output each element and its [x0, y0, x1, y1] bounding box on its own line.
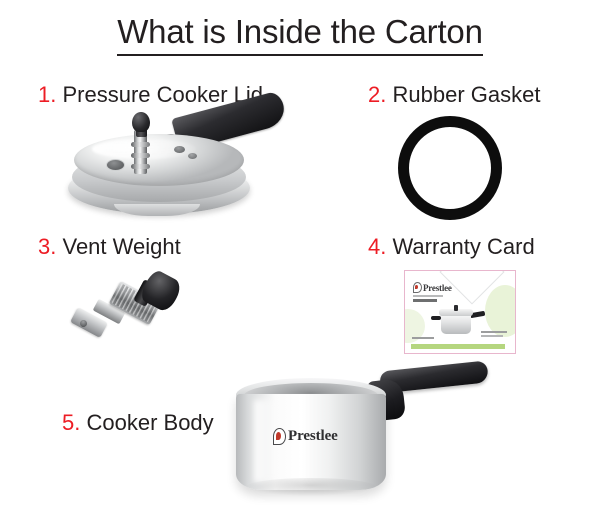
item-label-cooker-body: 5. Cooker Body	[62, 410, 214, 436]
card-footer-text-left	[412, 337, 434, 339]
item-text-5: Cooker Body	[86, 410, 213, 435]
item-text-4: Warranty Card	[392, 234, 534, 259]
card-cooker-knob	[454, 305, 458, 311]
card-footer-text-right-line2	[481, 335, 503, 337]
card-product-line	[413, 299, 437, 302]
page-title: What is Inside the Carton	[117, 12, 483, 56]
item-text-3: Vent Weight	[62, 234, 180, 259]
lid-secondary-hole	[188, 153, 197, 159]
item-number-5: 5.	[62, 410, 80, 435]
lid-base-foot	[114, 204, 200, 216]
infographic-page: What is Inside the Carton 1. Pressure Co…	[0, 0, 600, 506]
item-number-2: 2.	[368, 82, 386, 107]
card-brand-name: Prestlee	[423, 283, 452, 293]
lid-black-knob	[132, 112, 150, 132]
warranty-card-image: Prestlee	[404, 270, 516, 354]
card-cooker-illustration	[437, 305, 477, 335]
cooker-body-brand-logo: Prestlee	[273, 428, 338, 445]
item-text-2: Rubber Gasket	[392, 82, 540, 107]
item-label-warranty-card: 4. Warranty Card	[368, 234, 535, 260]
card-decor-circle-right	[485, 285, 516, 337]
card-green-accent-bar	[411, 344, 505, 349]
item-label-vent-weight: 3. Vent Weight	[38, 234, 181, 260]
lid-stem-ring-upper	[131, 142, 150, 147]
card-brand-logo: Prestlee	[413, 282, 452, 293]
rubber-gasket-ring-image	[398, 116, 514, 224]
item-number-1: 1.	[38, 82, 56, 107]
lid-stem-ring-lower	[131, 164, 150, 169]
warranty-card-surface: Prestlee	[404, 270, 516, 354]
card-footer-text-right-line1	[481, 331, 507, 333]
prestlee-droplet-icon	[413, 282, 422, 293]
card-subtitle-line	[413, 295, 443, 297]
gasket-ring	[398, 116, 502, 220]
pressure-cooker-lid-image	[62, 112, 292, 220]
cooker-body-image: Prestlee	[228, 362, 500, 506]
lid-vent-hole	[106, 159, 125, 171]
cooker-body-brand-name: Prestlee	[288, 428, 338, 445]
lid-stem-ring-mid	[131, 153, 150, 158]
item-number-3: 3.	[38, 234, 56, 259]
card-cooker-pot	[441, 313, 471, 334]
prestlee-droplet-icon	[273, 428, 286, 445]
lid-safety-valve-hole	[174, 146, 185, 153]
item-number-4: 4.	[368, 234, 386, 259]
item-label-rubber-gasket: 2. Rubber Gasket	[368, 82, 540, 108]
card-cooker-handle-left	[431, 316, 441, 320]
vent-weight-image	[68, 272, 194, 348]
cooker-body-base-shadow	[246, 478, 376, 496]
page-title-container: What is Inside the Carton	[0, 12, 600, 56]
